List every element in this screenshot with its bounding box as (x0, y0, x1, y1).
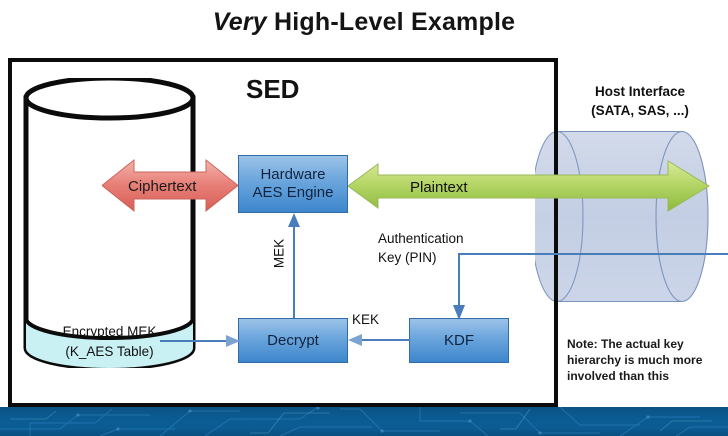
aes-box-line2: AES Engine (253, 184, 334, 202)
kek-arrow (348, 333, 410, 347)
page-title: Very High-Level Example (0, 8, 728, 37)
svg-text:Ciphertext: Ciphertext (128, 178, 197, 195)
decrypt-box-label: Decrypt (267, 332, 319, 350)
note-line3: involved than this (567, 368, 723, 384)
encrypted-mek-feed-arrow (160, 334, 240, 348)
host-interface-label: Host Interface (SATA, SAS, ...) (555, 82, 725, 120)
note-line1: Note: The actual key (567, 336, 723, 352)
aes-box-line1: Hardware (253, 166, 334, 184)
authentication-key-label-line1: Authentication (378, 229, 518, 248)
note-line2: hierarchy is much more (567, 352, 723, 368)
svg-text:Plaintext: Plaintext (410, 179, 468, 196)
slide-canvas: Very High-Level Example Host Interface (… (0, 0, 728, 436)
footer-circuit-band (0, 407, 728, 436)
title-emphasis: Very (213, 8, 267, 36)
sed-label: SED (246, 74, 299, 105)
host-interface-label-line1: Host Interface (555, 82, 725, 101)
ciphertext-arrow: Ciphertext (102, 158, 238, 213)
decrypt-box[interactable]: Decrypt (238, 318, 348, 363)
kdf-box-label: KDF (444, 332, 474, 350)
host-interface-label-line2: (SATA, SAS, ...) (555, 101, 725, 120)
authentication-key-label-line2: Key (PIN) (378, 248, 518, 267)
note-text: Note: The actual key hierarchy is much m… (567, 336, 723, 384)
authentication-key-label: Authentication Key (PIN) (378, 229, 518, 267)
title-rest: High-Level Example (267, 8, 515, 36)
hardware-aes-engine-box[interactable]: Hardware AES Engine (238, 155, 348, 213)
kdf-box[interactable]: KDF (409, 318, 509, 363)
plaintext-arrow: Plaintext (348, 160, 710, 212)
kek-label: KEK (352, 312, 379, 327)
mek-label: MEK (272, 224, 287, 284)
